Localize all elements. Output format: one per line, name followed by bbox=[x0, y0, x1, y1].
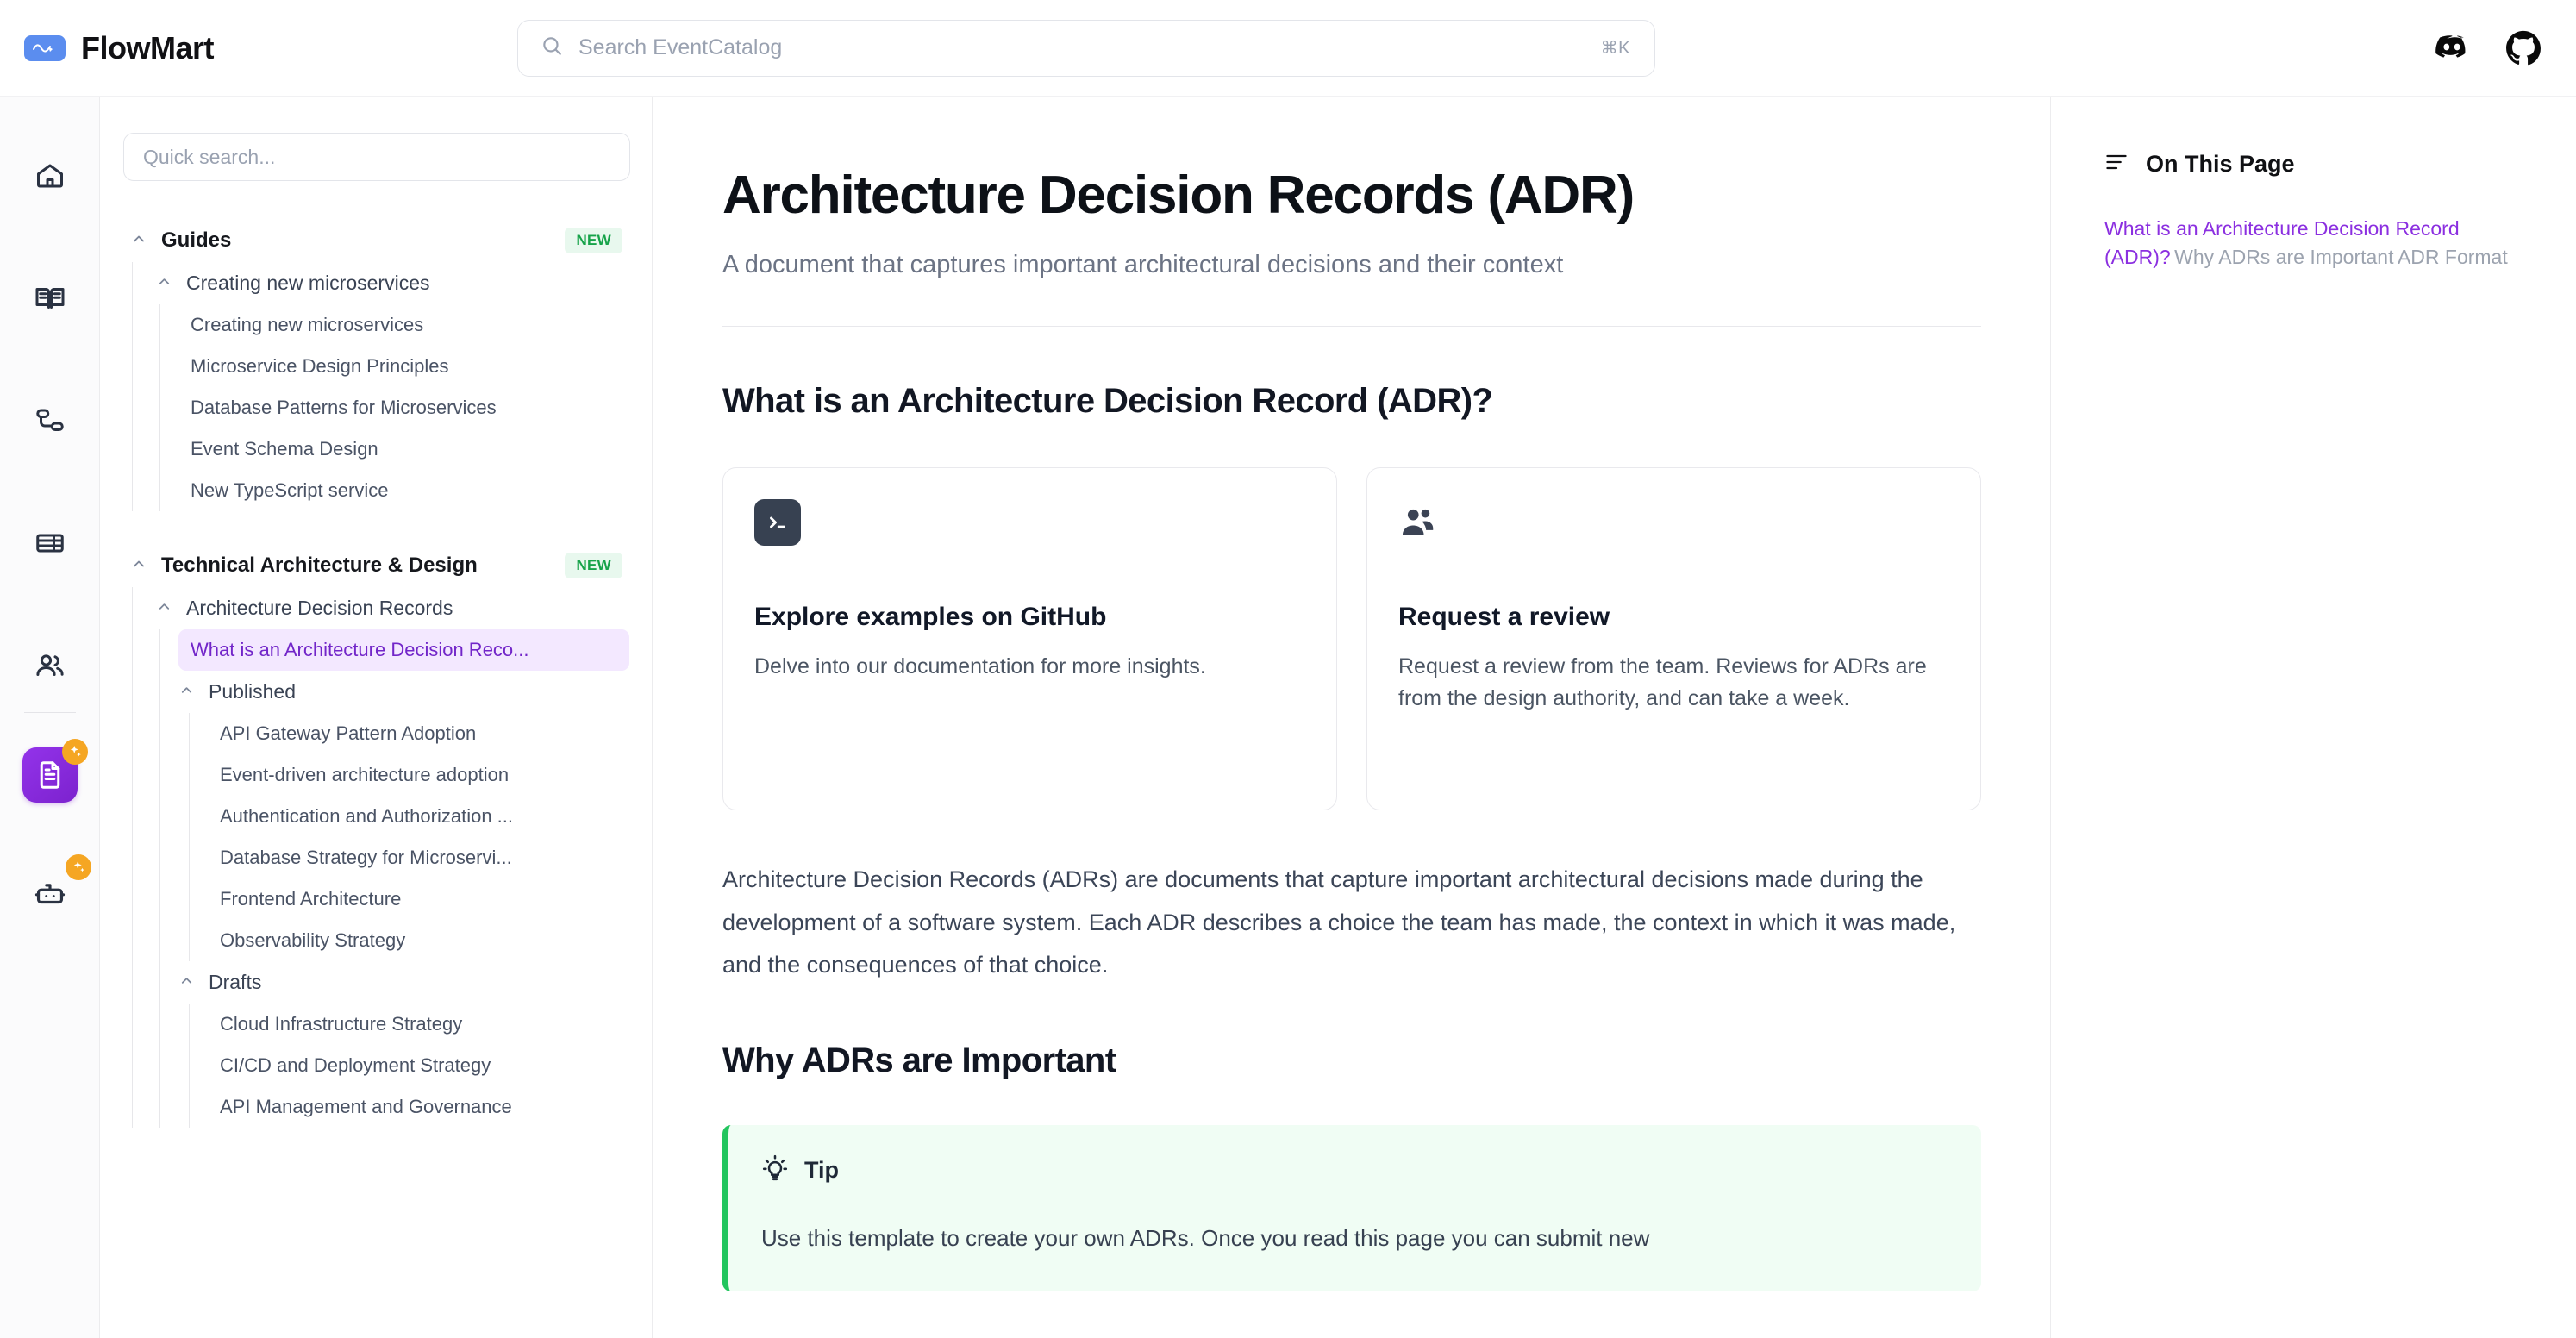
quick-search-input[interactable]: Quick search... bbox=[123, 133, 630, 181]
main-content: Architecture Decision Records (ADR) A do… bbox=[653, 97, 2050, 1338]
tip-callout: Tip Use this template to create your own… bbox=[722, 1125, 1981, 1291]
list-item[interactable]: Microservice Design Principles bbox=[178, 346, 629, 387]
chevron-up-icon bbox=[130, 555, 147, 577]
toc-link[interactable]: ADR Format bbox=[2398, 246, 2508, 268]
list-item[interactable]: Event-driven architecture adoption bbox=[208, 754, 629, 796]
flow-nodes-icon[interactable] bbox=[19, 390, 81, 452]
card-explore-examples[interactable]: Explore examples on GitHub Delve into ou… bbox=[722, 467, 1337, 810]
list-icon bbox=[2104, 150, 2129, 178]
nav-section-technical-architecture: Technical Architecture & Design NEW Arch… bbox=[123, 544, 629, 1128]
chevron-up-icon bbox=[156, 273, 172, 294]
sparkle-badge-icon bbox=[62, 739, 88, 765]
terminal-icon bbox=[754, 499, 801, 546]
divider bbox=[722, 326, 1981, 327]
nav-section-title: Technical Architecture & Design bbox=[161, 553, 551, 578]
list-item[interactable]: Database Strategy for Microservi... bbox=[208, 837, 629, 878]
chevron-up-icon bbox=[178, 972, 195, 993]
list-item[interactable]: New TypeScript service bbox=[178, 470, 629, 511]
nav-group-header[interactable]: Creating new microservices bbox=[149, 262, 629, 304]
tip-callout-body: Use this template to create your own ADR… bbox=[761, 1219, 1947, 1257]
search-wrap: Search EventCatalog ⌘K bbox=[517, 20, 1655, 77]
search-icon bbox=[541, 34, 563, 61]
nav-subgroup-title: Published bbox=[209, 680, 296, 703]
on-this-page-panel: On This Page What is an Architecture Dec… bbox=[2050, 97, 2576, 1338]
list-item[interactable]: API Management and Governance bbox=[208, 1086, 629, 1128]
nav-subgroup-header-published[interactable]: Published bbox=[178, 671, 629, 713]
nav-leaf-list: Cloud Infrastructure Strategy CI/CD and … bbox=[189, 1003, 629, 1128]
card-title: Explore examples on GitHub bbox=[754, 603, 1305, 632]
list-item[interactable]: Cloud Infrastructure Strategy bbox=[208, 1003, 629, 1045]
nav-subgroup-title: Drafts bbox=[209, 971, 261, 994]
card-description: Delve into our documentation for more in… bbox=[754, 651, 1305, 683]
card-grid: Explore examples on GitHub Delve into ou… bbox=[722, 467, 1981, 810]
search-placeholder: Search EventCatalog bbox=[578, 35, 1585, 60]
page-subtitle: A document that captures important archi… bbox=[722, 251, 1981, 279]
sparkle-badge-icon bbox=[66, 854, 91, 880]
list-item[interactable]: Creating new microservices bbox=[178, 304, 629, 346]
status-badge: NEW bbox=[565, 228, 622, 253]
people-icon bbox=[1398, 499, 1445, 546]
quick-search-placeholder: Quick search... bbox=[143, 146, 275, 169]
nav-leaf-list: Creating new microservices Microservice … bbox=[159, 304, 629, 511]
nav-children: Creating new microservices Creating new … bbox=[132, 262, 629, 511]
table-icon[interactable] bbox=[19, 512, 81, 574]
on-this-page-header: On This Page bbox=[2104, 150, 2524, 178]
section-heading-what-is-adr: What is an Architecture Decision Record … bbox=[722, 382, 1981, 421]
home-icon[interactable] bbox=[19, 145, 81, 207]
list-item[interactable]: CI/CD and Deployment Strategy bbox=[208, 1045, 629, 1086]
body-paragraph: Architecture Decision Records (ADRs) are… bbox=[722, 859, 1981, 985]
sidebar-item-active[interactable]: What is an Architecture Decision Reco... bbox=[178, 629, 629, 671]
sidebar-item-custom-docs[interactable] bbox=[22, 747, 78, 803]
card-title: Request a review bbox=[1398, 603, 1949, 632]
github-icon[interactable] bbox=[2505, 30, 2542, 66]
search-input[interactable]: Search EventCatalog ⌘K bbox=[517, 20, 1655, 77]
nav-group-title: Creating new microservices bbox=[186, 272, 429, 295]
card-request-review[interactable]: Request a review Request a review from t… bbox=[1366, 467, 1981, 810]
card-description: Request a review from the team. Reviews … bbox=[1398, 651, 1949, 715]
nav-leaf-list: What is an Architecture Decision Reco...… bbox=[159, 629, 629, 1128]
nav-sidebar: Quick search... Guides NEW Creating new … bbox=[101, 97, 653, 1338]
toc-link[interactable]: Why ADRs are Important bbox=[2174, 246, 2393, 268]
list-item[interactable]: Event Schema Design bbox=[178, 428, 629, 470]
topbar-links bbox=[2435, 30, 2576, 66]
list-item[interactable]: Frontend Architecture bbox=[208, 878, 629, 920]
page-title: Architecture Decision Records (ADR) bbox=[722, 166, 1981, 225]
on-this-page-title: On This Page bbox=[2146, 151, 2295, 178]
chevron-up-icon bbox=[130, 230, 147, 252]
users-icon[interactable] bbox=[19, 635, 81, 697]
nav-section-guides: Guides NEW Creating new microservices Cr… bbox=[123, 219, 629, 511]
list-item[interactable]: Authentication and Authorization ... bbox=[208, 796, 629, 837]
nav-leaf-list: API Gateway Pattern Adoption Event-drive… bbox=[189, 713, 629, 961]
lightbulb-icon bbox=[761, 1154, 789, 1186]
chat-bot-icon[interactable] bbox=[19, 863, 81, 925]
icon-rail bbox=[0, 97, 100, 1338]
nav-children: Architecture Decision Records What is an… bbox=[132, 587, 629, 1128]
nav-section-title: Guides bbox=[161, 228, 551, 253]
chevron-up-icon bbox=[178, 682, 195, 703]
top-bar: FlowMart Search EventCatalog ⌘K bbox=[0, 0, 2576, 97]
list-item[interactable]: Database Patterns for Microservices bbox=[178, 387, 629, 428]
status-badge: NEW bbox=[565, 553, 622, 578]
nav-subgroup-header-drafts[interactable]: Drafts bbox=[178, 961, 629, 1003]
search-shortcut: ⌘K bbox=[1601, 37, 1630, 59]
nav-group-title: Architecture Decision Records bbox=[186, 597, 453, 620]
tip-callout-header: Tip bbox=[761, 1154, 1947, 1186]
list-item[interactable]: API Gateway Pattern Adoption bbox=[208, 713, 629, 754]
nav-section-header[interactable]: Technical Architecture & Design NEW bbox=[123, 544, 629, 587]
rail-divider bbox=[24, 712, 76, 713]
book-icon[interactable] bbox=[19, 267, 81, 329]
flow-wave-icon bbox=[24, 35, 66, 61]
discord-icon[interactable] bbox=[2435, 31, 2469, 66]
section-heading-why-adrs: Why ADRs are Important bbox=[722, 1041, 1981, 1080]
nav-section-header[interactable]: Guides NEW bbox=[123, 219, 629, 262]
nav-group-header[interactable]: Architecture Decision Records bbox=[149, 587, 629, 629]
list-item[interactable]: Observability Strategy bbox=[208, 920, 629, 961]
chevron-up-icon bbox=[156, 598, 172, 619]
tip-callout-title: Tip bbox=[804, 1157, 839, 1184]
brand-name: FlowMart bbox=[81, 30, 214, 66]
